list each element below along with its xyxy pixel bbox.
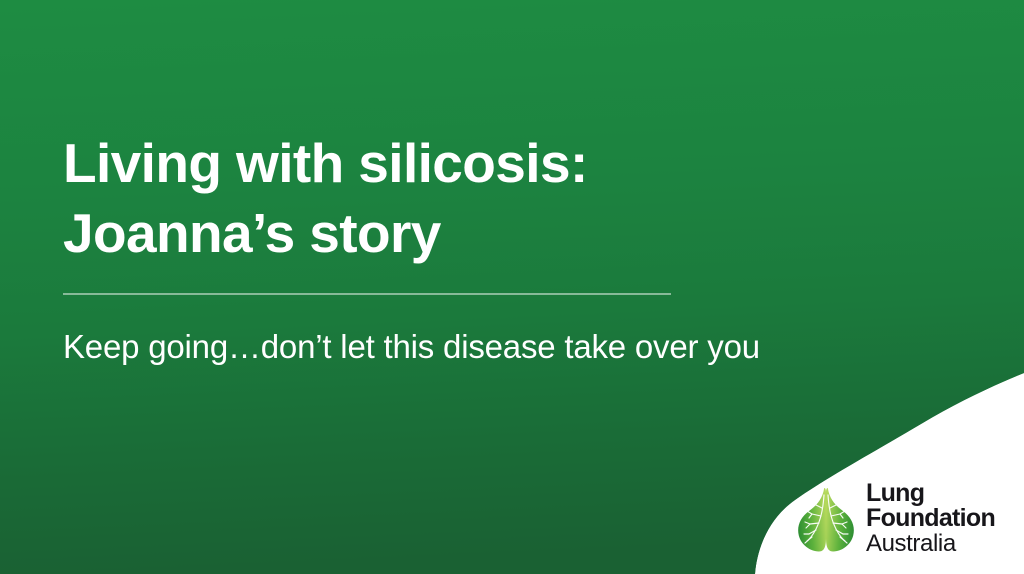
logo-wordmark: Lung Foundation Australia	[866, 481, 995, 558]
logo-text-lung: Lung	[866, 481, 995, 506]
lung-leaves-icon	[795, 483, 857, 555]
text-block: Living with silicosis: Joanna’s story Ke…	[63, 128, 763, 369]
title-divider	[63, 293, 671, 295]
logo-text-foundation: Foundation	[866, 506, 995, 531]
slide-canvas: Living with silicosis: Joanna’s story Ke…	[0, 0, 1024, 574]
logo-lockup: Lung Foundation Australia	[795, 481, 995, 558]
page-title: Living with silicosis: Joanna’s story	[63, 128, 763, 269]
logo-text-australia: Australia	[866, 532, 995, 556]
subtitle-quote: Keep going…don’t let this disease take o…	[63, 325, 823, 369]
